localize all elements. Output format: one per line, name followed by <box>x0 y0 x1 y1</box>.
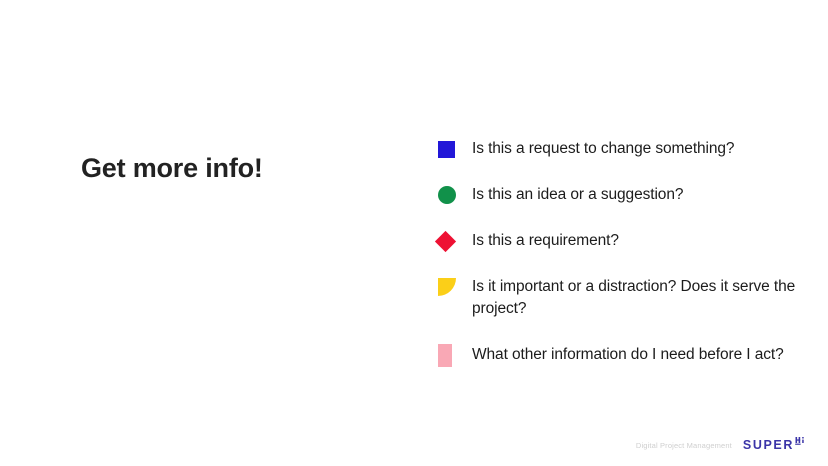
brand-wordmark: SUPER <box>743 439 794 452</box>
blue-square-bullet-icon <box>438 138 458 160</box>
list-item: Is it important or a distraction? Does i… <box>438 276 808 320</box>
list-item-label: Is this a request to change something? <box>472 138 734 160</box>
footer-caption: Digital Project Management <box>636 441 732 450</box>
super-brand-logo: SUPER <box>743 439 806 452</box>
page-title: Get more info! <box>81 152 263 184</box>
slide-footer: Digital Project Management SUPER <box>636 439 806 452</box>
list-item: Is this a requirement? <box>438 230 808 252</box>
list-item: Is this an idea or a suggestion? <box>438 184 808 206</box>
brand-superscript-mark-icon <box>795 436 806 452</box>
green-circle-bullet-icon <box>438 184 458 206</box>
presentation-slide: Get more info! Is this a request to chan… <box>0 0 828 466</box>
list-item-label: Is this an idea or a suggestion? <box>472 184 683 206</box>
list-item: Is this a request to change something? <box>438 138 808 160</box>
list-item: What other information do I need before … <box>438 344 808 366</box>
list-item-label: Is it important or a distraction? Does i… <box>472 276 802 320</box>
list-item-label: Is this a requirement? <box>472 230 619 252</box>
bullet-list: Is this a request to change something? I… <box>438 138 808 366</box>
red-diamond-bullet-icon <box>438 230 458 252</box>
yellow-quarter-circle-bullet-icon <box>438 276 458 298</box>
list-item-label: What other information do I need before … <box>472 344 784 366</box>
pink-rectangle-bullet-icon <box>438 344 458 366</box>
